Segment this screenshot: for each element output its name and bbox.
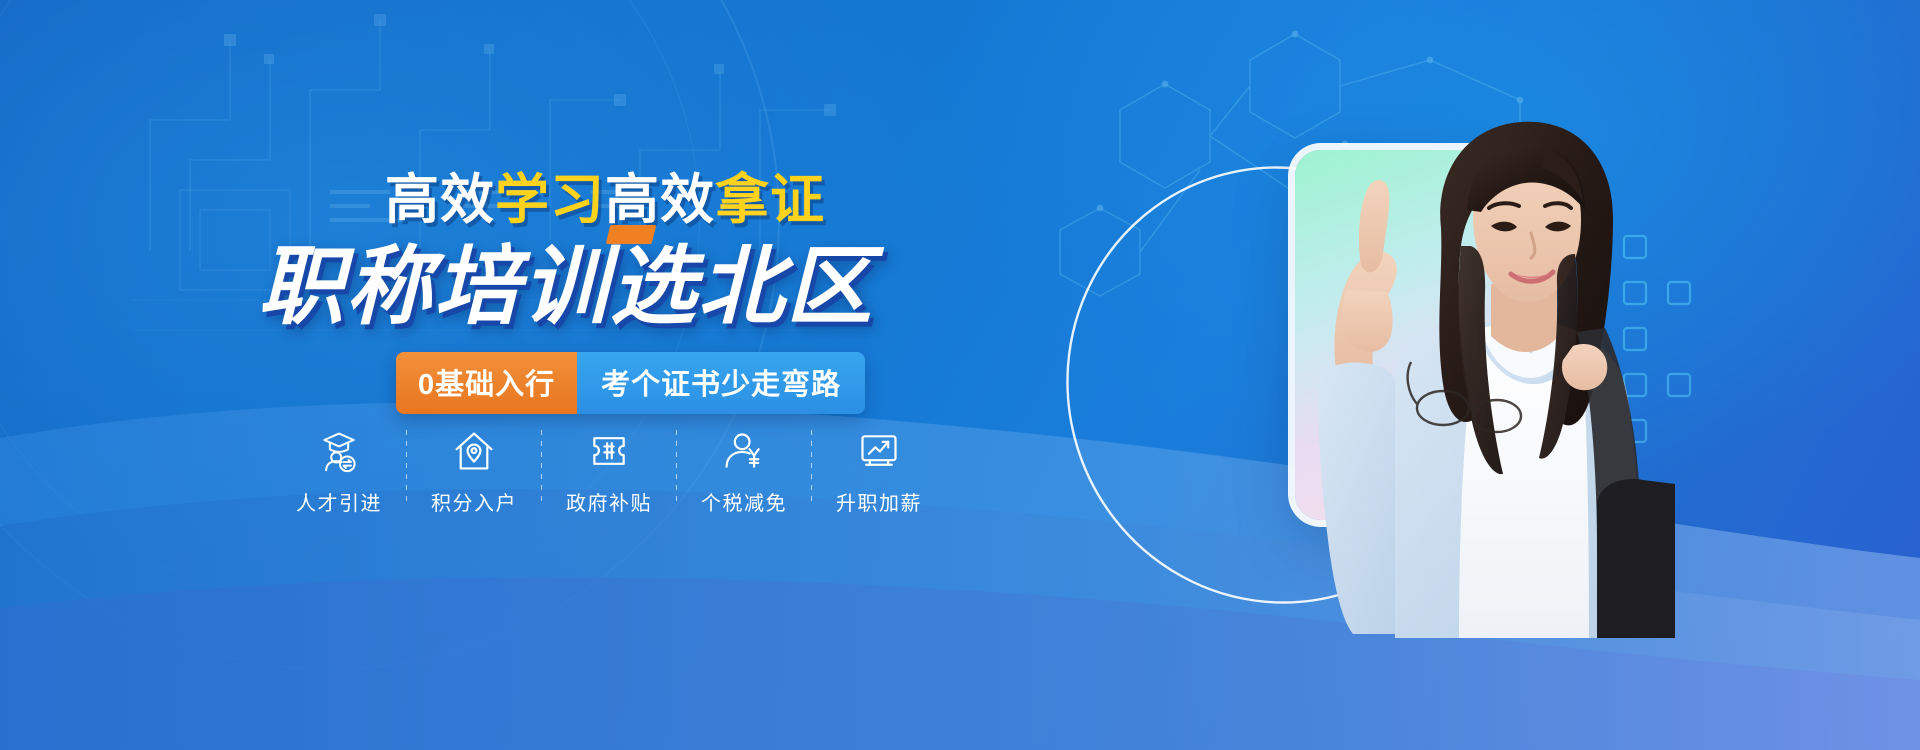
- feature-item-tax-reduction[interactable]: 个税减免: [677, 428, 811, 516]
- feature-label: 积分入户: [431, 487, 517, 516]
- voucher-ticket-icon: [586, 428, 632, 474]
- feature-item-talent-introduction[interactable]: 人才引进: [272, 428, 406, 516]
- graduate-person-icon: [316, 428, 362, 474]
- feature-item-promotion-raise[interactable]: 升职加薪: [812, 428, 946, 516]
- main-headline: 职称培训选北区: [258, 216, 874, 341]
- main-headline-part-2: 选北区: [610, 239, 874, 335]
- person-yuan-icon: [721, 428, 767, 474]
- slogan-text: 考个证书少走弯路: [577, 352, 865, 414]
- model-photo: [1245, 78, 1675, 638]
- feature-item-points-residency[interactable]: 积分入户: [407, 428, 541, 516]
- feature-label: 政府补贴: [566, 487, 652, 516]
- feature-label: 人才引进: [296, 487, 382, 516]
- feature-label: 个税减免: [701, 487, 787, 516]
- feature-label: 升职加薪: [836, 487, 922, 516]
- growth-chart-board-icon: [856, 428, 902, 474]
- promo-banner: 高效学习高效拿证 职称培训选北区 0基础入行 考个证书少走弯路: [0, 0, 1920, 750]
- feature-item-government-subsidy[interactable]: 政府补贴: [542, 428, 676, 516]
- slogan-bar: 0基础入行 考个证书少走弯路: [396, 352, 865, 414]
- house-location-pin-icon: [451, 428, 497, 474]
- main-headline-part-1: 职称培训: [258, 239, 610, 335]
- feature-list: 人才引进 积分入户: [272, 428, 946, 516]
- slogan-badge: 0基础入行: [396, 352, 577, 414]
